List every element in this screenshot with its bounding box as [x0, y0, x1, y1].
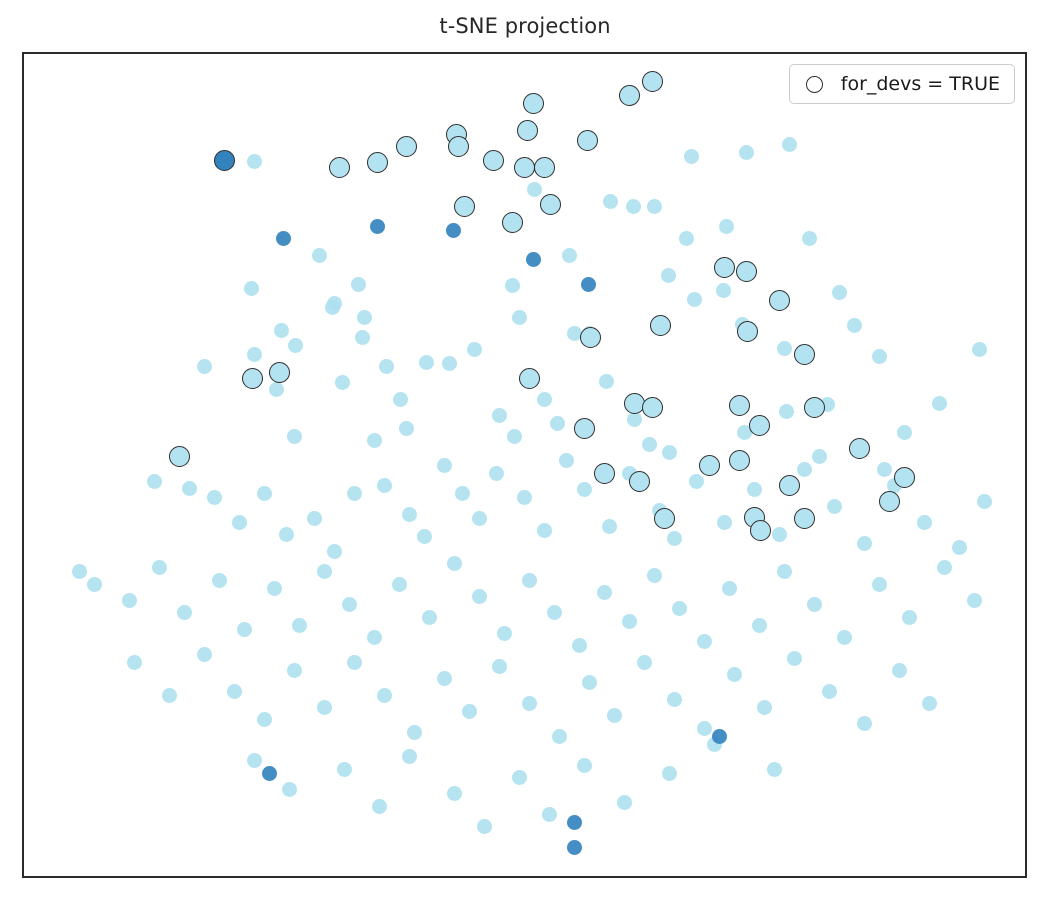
scatter-point	[807, 597, 822, 612]
scatter-point	[288, 338, 303, 353]
scatter-point-highlighted	[714, 257, 735, 278]
scatter-point	[607, 708, 622, 723]
scatter-point	[207, 490, 222, 505]
chart-legend[interactable]: for_devs = TRUE	[789, 64, 1015, 104]
scatter-point	[779, 404, 794, 419]
scatter-point	[197, 359, 212, 374]
scatter-point	[527, 182, 542, 197]
scatter-point	[599, 374, 614, 389]
scatter-point	[559, 453, 574, 468]
scatter-point-highlighted	[629, 471, 650, 492]
scatter-point	[402, 749, 417, 764]
scatter-point-highlighted	[577, 130, 598, 151]
scatter-point	[317, 564, 332, 579]
scatter-point	[712, 729, 727, 744]
scatter-point	[617, 795, 632, 810]
scatter-point	[402, 507, 417, 522]
scatter-point	[152, 560, 167, 575]
scatter-point	[581, 277, 596, 292]
scatter-point-highlighted	[396, 136, 417, 157]
scatter-point	[377, 478, 392, 493]
scatter-point-highlighted	[749, 415, 770, 436]
scatter-point	[687, 292, 702, 307]
scatter-point	[757, 700, 772, 715]
scatter-point	[442, 356, 457, 371]
scatter-point	[342, 597, 357, 612]
scatter-point	[477, 819, 492, 834]
scatter-point	[902, 610, 917, 625]
scatter-point	[467, 342, 482, 357]
scatter-point	[572, 638, 587, 653]
scatter-point	[422, 610, 437, 625]
scatter-point	[317, 700, 332, 715]
scatter-point	[522, 573, 537, 588]
scatter-point	[679, 231, 694, 246]
scatter-point	[526, 252, 541, 267]
scatter-point	[407, 725, 422, 740]
scatter-point	[877, 462, 892, 477]
scatter-point	[127, 655, 142, 670]
scatter-point-highlighted	[642, 71, 663, 92]
scatter-point	[603, 194, 618, 209]
scatter-point	[357, 310, 372, 325]
scatter-point	[872, 349, 887, 364]
scatter-point	[337, 762, 352, 777]
scatter-point	[822, 684, 837, 699]
scatter-point	[355, 330, 370, 345]
scatter-point	[279, 527, 294, 542]
scatter-point	[417, 529, 432, 544]
scatter-point-highlighted	[523, 93, 544, 114]
scatter-point	[472, 511, 487, 526]
scatter-point	[347, 655, 362, 670]
scatter-point	[446, 223, 461, 238]
scatter-point	[347, 486, 362, 501]
scatter-point	[716, 283, 731, 298]
scatter-point	[472, 589, 487, 604]
scatter-point	[697, 634, 712, 649]
plot-area: for_devs = TRUE	[22, 52, 1027, 878]
scatter-point	[267, 581, 282, 596]
scatter-point-highlighted	[736, 261, 757, 282]
scatter-point	[287, 429, 302, 444]
scatter-point	[892, 663, 907, 678]
scatter-point-highlighted	[214, 150, 235, 171]
scatter-point	[392, 577, 407, 592]
scatter-point	[550, 416, 565, 431]
legend-label: for_devs = TRUE	[841, 73, 1000, 95]
scatter-point	[627, 412, 642, 427]
scatter-point	[827, 499, 842, 514]
scatter-point-highlighted	[849, 438, 870, 459]
scatter-point	[182, 481, 197, 496]
scatter-point-highlighted	[779, 475, 800, 496]
scatter-point	[922, 696, 937, 711]
scatter-point-highlighted	[737, 321, 758, 342]
scatter-point	[367, 433, 382, 448]
scatter-point	[662, 766, 677, 781]
scatter-point	[684, 149, 699, 164]
page-title: t-SNE projection	[0, 14, 1050, 38]
scatter-point	[562, 248, 577, 263]
scatter-point	[244, 281, 259, 296]
scatter-point	[777, 341, 792, 356]
scatter-point	[667, 692, 682, 707]
scatter-point	[837, 630, 852, 645]
scatter-point	[857, 536, 872, 551]
scatter-points-layer	[24, 54, 1025, 876]
scatter-point-highlighted	[483, 150, 504, 171]
scatter-point	[537, 392, 552, 407]
scatter-point	[393, 392, 408, 407]
scatter-point	[497, 626, 512, 641]
scatter-point	[307, 511, 322, 526]
scatter-point	[667, 531, 682, 546]
scatter-point	[122, 593, 137, 608]
scatter-point-highlighted	[804, 397, 825, 418]
scatter-point	[377, 688, 392, 703]
scatter-point	[626, 199, 641, 214]
scatter-point-highlighted	[750, 520, 771, 541]
scatter-point	[335, 375, 350, 390]
scatter-point	[897, 425, 912, 440]
scatter-point-highlighted	[242, 368, 263, 389]
scatter-point	[689, 474, 704, 489]
scatter-point	[227, 684, 242, 699]
tsne-scatter-figure: t-SNE projection for_devs = TRUE	[0, 0, 1050, 900]
scatter-point	[372, 799, 387, 814]
scatter-point-highlighted	[540, 194, 561, 215]
scatter-point	[72, 564, 87, 579]
scatter-point-highlighted	[454, 196, 475, 217]
scatter-point	[492, 408, 507, 423]
scatter-point	[370, 219, 385, 234]
scatter-point-highlighted	[794, 344, 815, 365]
scatter-point	[622, 614, 637, 629]
scatter-point-highlighted	[448, 136, 469, 157]
scatter-point	[642, 437, 657, 452]
scatter-point	[162, 688, 177, 703]
scatter-point	[287, 663, 302, 678]
scatter-point	[972, 342, 987, 357]
scatter-point-highlighted	[769, 290, 790, 311]
scatter-point	[932, 396, 947, 411]
scatter-point	[282, 782, 297, 797]
scatter-point	[177, 605, 192, 620]
scatter-point	[419, 355, 434, 370]
scatter-point	[647, 568, 662, 583]
scatter-point	[87, 577, 102, 592]
scatter-point	[542, 807, 557, 822]
scatter-point	[752, 618, 767, 633]
scatter-point	[367, 630, 382, 645]
scatter-point-highlighted	[594, 463, 615, 484]
scatter-point	[437, 671, 452, 686]
scatter-point-highlighted	[619, 85, 640, 106]
scatter-point	[812, 449, 827, 464]
scatter-point	[325, 300, 340, 315]
scatter-point	[722, 581, 737, 596]
scatter-point-highlighted	[879, 491, 900, 512]
scatter-point	[276, 231, 291, 246]
scatter-point	[582, 675, 597, 690]
scatter-point-highlighted	[502, 212, 523, 233]
scatter-point	[777, 564, 792, 579]
scatter-point	[767, 762, 782, 777]
scatter-point	[517, 490, 532, 505]
scatter-point	[832, 285, 847, 300]
scatter-point	[237, 622, 252, 637]
scatter-point	[847, 318, 862, 333]
scatter-point	[787, 651, 802, 666]
scatter-point	[269, 382, 284, 397]
scatter-point	[552, 729, 567, 744]
scatter-point	[399, 421, 414, 436]
scatter-point	[197, 647, 212, 662]
scatter-point-highlighted	[169, 446, 190, 467]
scatter-point-highlighted	[514, 157, 535, 178]
scatter-point	[351, 277, 366, 292]
scatter-point	[597, 585, 612, 600]
scatter-point-highlighted	[894, 467, 915, 488]
scatter-point	[547, 605, 562, 620]
scatter-point	[662, 445, 677, 460]
scatter-point	[952, 540, 967, 555]
scatter-point-highlighted	[794, 508, 815, 529]
scatter-point-highlighted	[650, 315, 671, 336]
scatter-point	[717, 515, 732, 530]
scatter-point-highlighted	[574, 418, 595, 439]
scatter-point	[492, 659, 507, 674]
scatter-point	[489, 466, 504, 481]
scatter-point-highlighted	[329, 157, 350, 178]
scatter-point-highlighted	[517, 120, 538, 141]
scatter-point	[872, 577, 887, 592]
scatter-point-highlighted	[699, 455, 720, 476]
scatter-point	[802, 231, 817, 246]
scatter-point	[379, 359, 394, 374]
scatter-point	[505, 278, 520, 293]
scatter-point	[637, 655, 652, 670]
scatter-point	[697, 721, 712, 736]
scatter-point	[462, 704, 477, 719]
scatter-point	[577, 482, 592, 497]
scatter-point-highlighted	[534, 157, 555, 178]
scatter-point	[797, 462, 812, 477]
scatter-point	[937, 560, 952, 575]
scatter-point	[522, 696, 537, 711]
scatter-point-highlighted	[654, 508, 675, 529]
scatter-point	[257, 712, 272, 727]
scatter-point	[247, 753, 262, 768]
scatter-point	[455, 486, 470, 501]
scatter-point-highlighted	[642, 397, 663, 418]
scatter-point-highlighted	[729, 450, 750, 471]
scatter-point	[247, 347, 262, 362]
scatter-point	[312, 248, 327, 263]
scatter-point	[782, 137, 797, 152]
scatter-point	[232, 515, 247, 530]
scatter-point-highlighted	[367, 152, 388, 173]
scatter-point	[447, 786, 462, 801]
scatter-point	[727, 667, 742, 682]
scatter-point	[274, 323, 289, 338]
scatter-point	[977, 494, 992, 509]
scatter-point	[739, 145, 754, 160]
scatter-point	[661, 268, 676, 283]
scatter-point	[567, 840, 582, 855]
scatter-point	[537, 523, 552, 538]
scatter-point	[967, 593, 982, 608]
scatter-point	[772, 527, 787, 542]
scatter-point	[327, 544, 342, 559]
scatter-point	[567, 815, 582, 830]
scatter-point	[507, 429, 522, 444]
scatter-point	[292, 618, 307, 633]
scatter-point	[747, 482, 762, 497]
scatter-point	[212, 573, 227, 588]
scatter-point	[512, 310, 527, 325]
scatter-point	[602, 519, 617, 534]
scatter-point	[672, 601, 687, 616]
scatter-point	[257, 486, 272, 501]
scatter-point	[917, 515, 932, 530]
scatter-point	[857, 716, 872, 731]
scatter-point	[262, 766, 277, 781]
scatter-point-highlighted	[519, 368, 540, 389]
scatter-point	[512, 770, 527, 785]
scatter-point	[447, 556, 462, 571]
scatter-point	[437, 458, 452, 473]
scatter-point-highlighted	[269, 362, 290, 383]
scatter-point	[647, 199, 662, 214]
scatter-point	[719, 219, 734, 234]
legend-circle-open-icon	[806, 76, 823, 93]
scatter-point-highlighted	[729, 395, 750, 416]
scatter-point	[247, 154, 262, 169]
scatter-point-highlighted	[580, 327, 601, 348]
scatter-point	[147, 474, 162, 489]
scatter-point	[577, 758, 592, 773]
